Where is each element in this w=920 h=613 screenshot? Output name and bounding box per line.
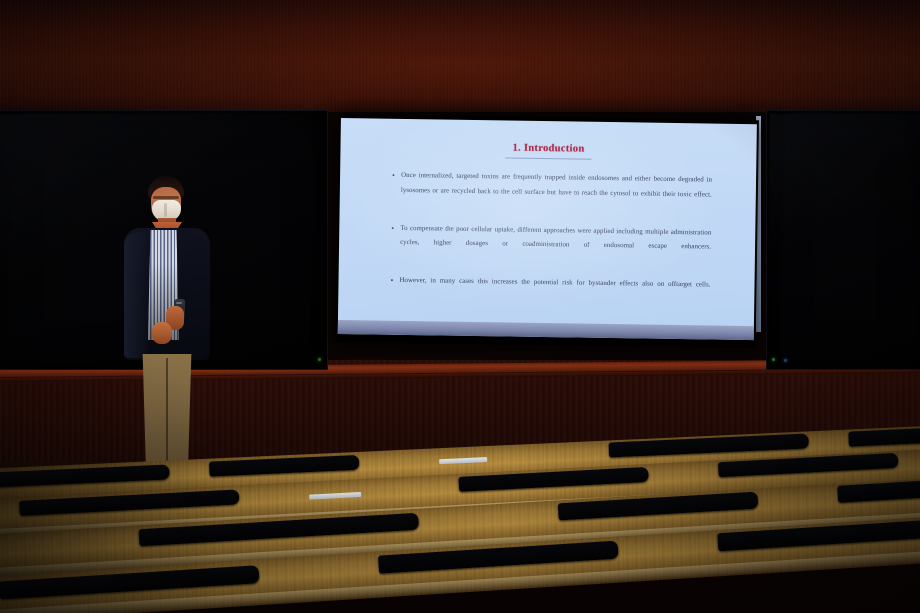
slide-bullet-item: • To compensate the poor cellular uptake… bbox=[391, 221, 712, 269]
bullet-marker-icon: • bbox=[390, 274, 399, 303]
projection-screen[interactable]: 1. Introduction • Once internalized, tar… bbox=[336, 114, 759, 348]
slide-bullet-text: However, in many cases this increases th… bbox=[399, 274, 710, 308]
left-panel-power-led-icon bbox=[318, 358, 321, 361]
right-display-glass bbox=[770, 114, 920, 366]
right-panel-power-led-icon bbox=[772, 358, 775, 361]
presenter-left-hand bbox=[152, 322, 172, 344]
presenter-glasses-icon bbox=[153, 196, 179, 199]
slide-bullet-item: • However, in many cases this increases … bbox=[390, 274, 710, 308]
slide-title: 1. Introduction bbox=[340, 140, 756, 157]
slide-title-underline bbox=[505, 157, 591, 159]
slide-bullet-list: • Once internalized, targeted toxins are… bbox=[390, 169, 712, 317]
lecture-hall-scene: 1. Introduction • Once internalized, tar… bbox=[0, 0, 920, 613]
presenter-trouser-seam bbox=[166, 358, 168, 470]
back-wall-upper bbox=[0, 0, 920, 112]
slide-bullet-text: To compensate the poor cellular uptake, … bbox=[400, 221, 712, 269]
slide-bullet-item: • Once internalized, targeted toxins are… bbox=[392, 169, 713, 217]
right-display-panel[interactable] bbox=[766, 110, 920, 370]
presenter-figure bbox=[108, 176, 226, 474]
right-panel-status-led-icon bbox=[784, 359, 787, 362]
slide-footer-bar bbox=[338, 320, 754, 340]
presentation-slide: 1. Introduction • Once internalized, tar… bbox=[338, 118, 757, 340]
slide-bullet-text: Once internalized, targeted toxins are f… bbox=[401, 169, 713, 217]
